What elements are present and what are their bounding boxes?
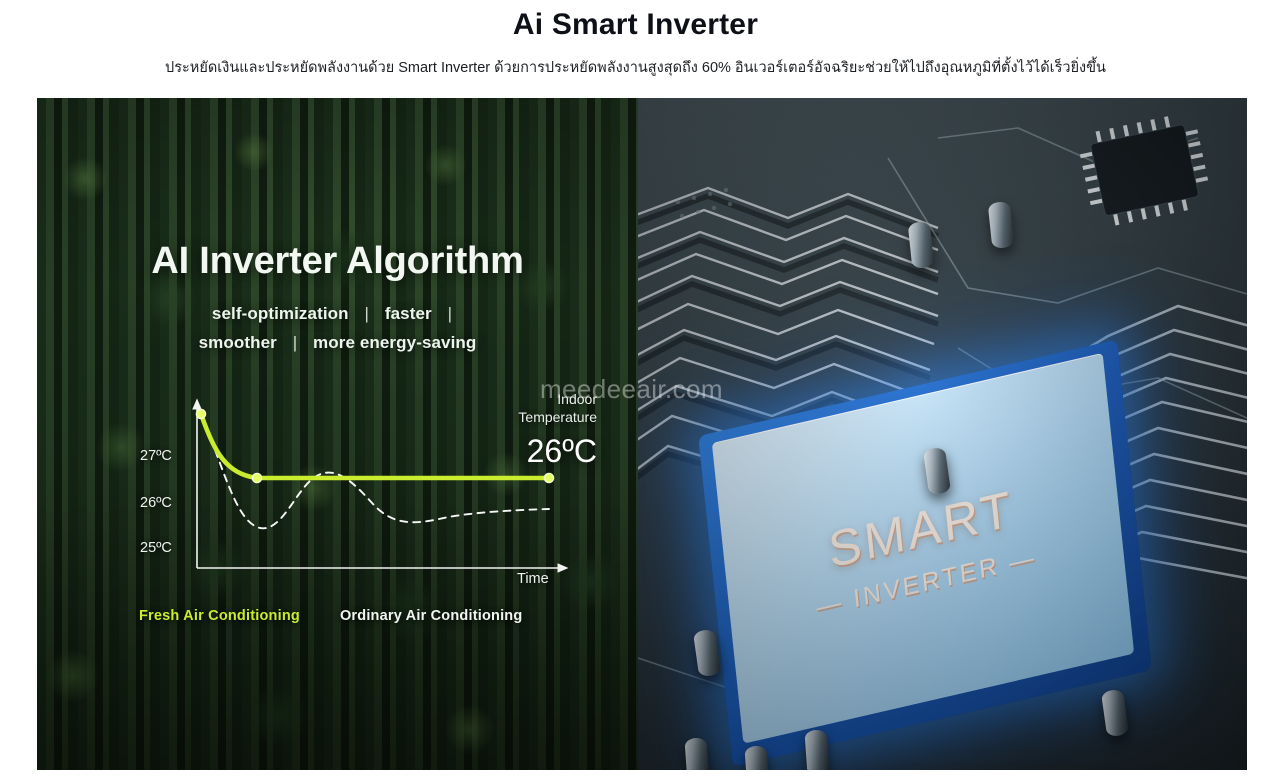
legend-item-fresh: Fresh Air Conditioning bbox=[139, 608, 300, 624]
data-point-settle bbox=[252, 473, 261, 482]
page-root: Ai Smart Inverter ประหยัดเงินและประหยัดพ… bbox=[0, 0, 1271, 783]
legend-item-ordinary: Ordinary Air Conditioning bbox=[340, 608, 522, 624]
y-tick-25: 25ºC bbox=[140, 540, 172, 556]
x-axis-label: Time bbox=[517, 571, 549, 587]
chart-legend: Fresh Air Conditioning Ordinary Air Cond… bbox=[139, 608, 522, 624]
left-image-panel: AI Inverter Algorithm self-optimization … bbox=[37, 98, 638, 770]
y-tick-26: 26ºC bbox=[140, 495, 172, 511]
indoor-label-line-2: Temperature bbox=[452, 408, 597, 426]
data-point-end bbox=[544, 473, 553, 482]
data-point-start bbox=[196, 409, 205, 418]
indoor-temperature-value: 26ºC bbox=[452, 430, 597, 472]
page-subtitle: ประหยัดเงินและประหยัดพลังงานด้วย Smart I… bbox=[0, 58, 1271, 78]
page-title: Ai Smart Inverter bbox=[0, 6, 1271, 44]
indoor-label-line-1: Indoor bbox=[452, 390, 597, 408]
header: Ai Smart Inverter ประหยัดเงินและประหยัดพ… bbox=[0, 0, 1271, 78]
board-vignette bbox=[638, 98, 1247, 770]
temperature-chart: 27ºC 26ºC 25ºC Time Indoor Temperature 2… bbox=[97, 390, 597, 640]
y-tick-27: 27ºC bbox=[140, 448, 172, 464]
right-image-panel: SMART — INVERTER — bbox=[638, 98, 1247, 770]
indoor-temperature-readout: Indoor Temperature 26ºC bbox=[452, 390, 597, 472]
hero-banner: AI Inverter Algorithm self-optimization … bbox=[37, 98, 1247, 770]
